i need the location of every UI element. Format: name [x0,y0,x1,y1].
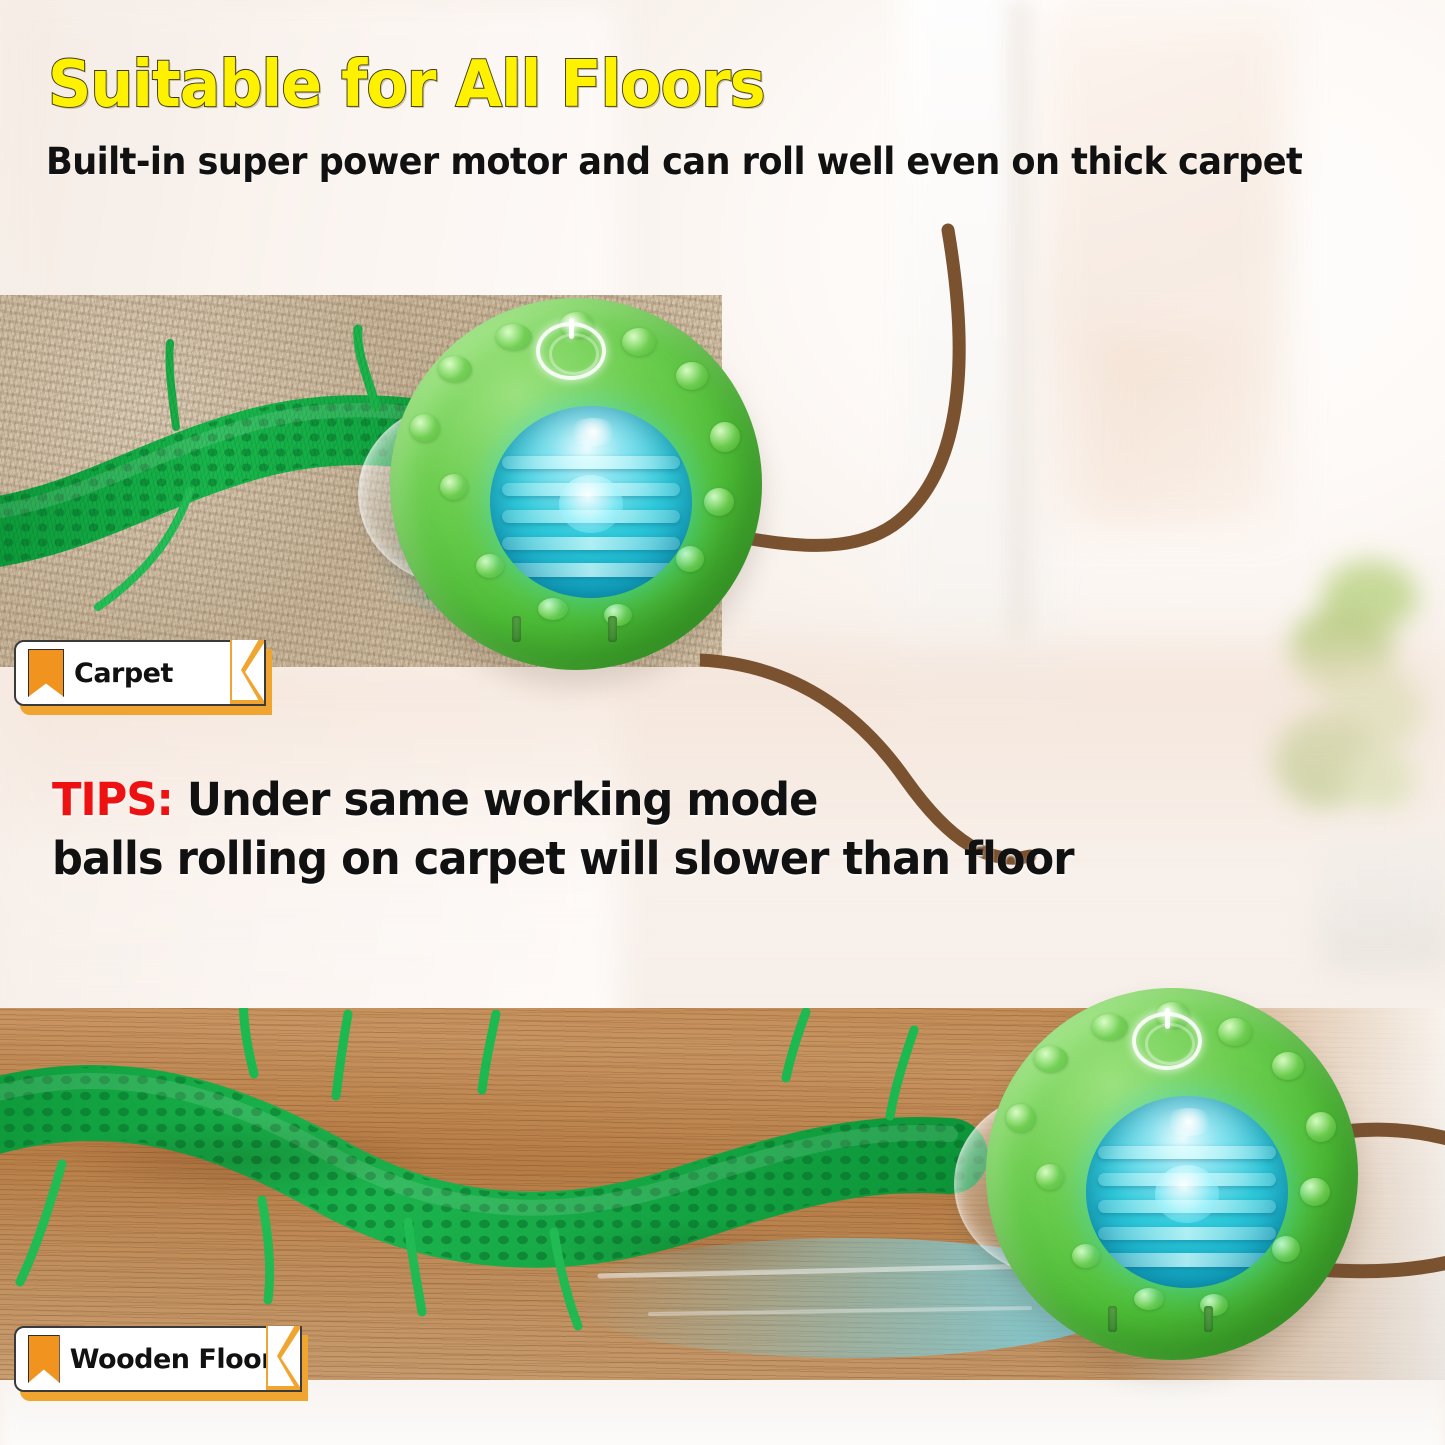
ball-bump [1092,1014,1128,1040]
tips-lead: TIPS: [52,773,173,826]
ball-bump [1272,1236,1300,1262]
tips-line-1: Under same working mode [173,773,818,826]
page-title: Suitable for All Floors [48,48,765,122]
background-picture-frame-secondary [1090,330,1250,520]
ball-bump [440,474,468,500]
ball-bump [476,554,504,578]
ball-bump [1272,1052,1304,1080]
ball-vent [1204,1306,1213,1332]
ball-vent [1108,1306,1117,1332]
tag-notch [230,640,266,704]
ball-vent [512,616,521,642]
ball-bump [438,356,472,382]
background-rail [1010,0,1036,640]
ball-bump [1036,1164,1064,1190]
power-icon[interactable] [536,322,606,380]
led-window [490,406,692,598]
power-icon[interactable] [1132,1012,1202,1070]
ball-bump [1072,1244,1100,1268]
ball-bump [1300,1178,1330,1206]
ball-bump [676,546,704,572]
bookmark-icon [28,1335,60,1383]
ball-vent [608,616,617,642]
tips-block: TIPS: Under same working mode balls roll… [52,770,1074,889]
ball-bump [710,422,740,452]
ball-bump [704,488,734,516]
ball-bump [676,362,708,390]
ball-bump [496,324,532,350]
bookmark-icon [28,649,64,697]
ball-bump [1306,1112,1336,1142]
wooden-floor-label-text: Wooden Floor [70,1344,300,1375]
ball-bump [538,598,568,620]
tips-line-2: balls rolling on carpet will slower than… [52,832,1074,885]
ball-bump [1034,1046,1068,1072]
led-window [1086,1096,1288,1288]
ball-bump [1134,1288,1164,1310]
carpet-label-text: Carpet [74,658,199,689]
product-ball-wood [986,988,1358,1360]
ball-bump [1218,1018,1252,1046]
product-infographic: Suitable for All Floors Built-in super p… [0,0,1445,1445]
wooden-floor-label-tag: Wooden Floor [14,1326,302,1392]
page-subtitle: Built-in super power motor and can roll … [46,140,1302,183]
ball-bump [1006,1104,1036,1132]
ball-bump [410,414,440,442]
background-window [900,0,1060,730]
ball-bump [622,328,656,356]
product-ball-carpet [390,298,762,670]
carpet-label-tag: Carpet [14,640,266,706]
